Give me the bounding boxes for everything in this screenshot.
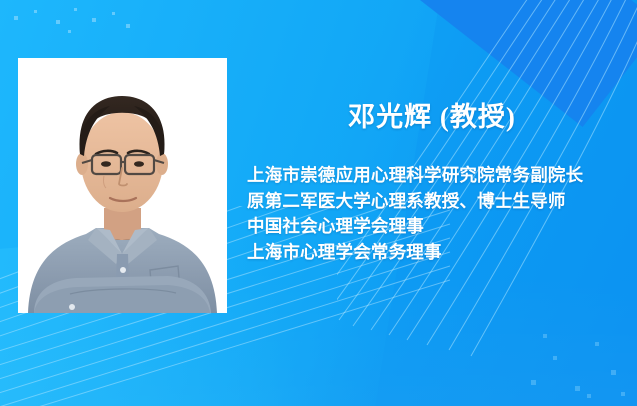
bio-line-3: 中国社会心理学会理事 bbox=[247, 214, 627, 240]
speaker-bio-block: 上海市崇德应用心理科学研究院常务副院长 原第二军医大学心理系教授、博士生导师 中… bbox=[247, 163, 627, 265]
bio-line-1: 上海市崇德应用心理科学研究院常务副院长 bbox=[247, 163, 627, 189]
bio-line-4: 上海市心理学会常务理事 bbox=[247, 240, 627, 266]
speaker-photo-frame bbox=[18, 58, 227, 313]
bio-line-2: 原第二军医大学心理系教授、博士生导师 bbox=[247, 189, 627, 215]
portrait-illustration bbox=[18, 58, 227, 313]
speaker-photo bbox=[18, 58, 227, 313]
speaker-name-title: 邓光辉 (教授) bbox=[247, 103, 617, 133]
speaker-intro-slide: 邓光辉 (教授) 上海市崇德应用心理科学研究院常务副院长 原第二军医大学心理系教… bbox=[0, 0, 637, 406]
